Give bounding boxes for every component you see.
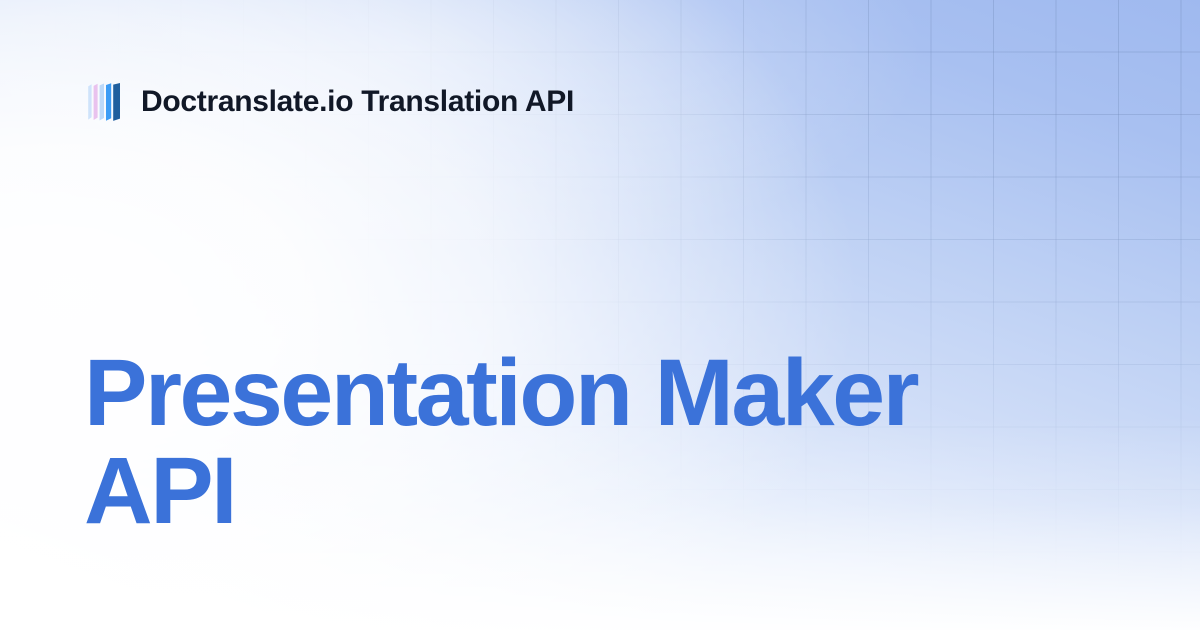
og-card: Doctranslate.io Translation API Presenta…: [0, 0, 1200, 630]
page-title: Presentation Maker API: [84, 345, 1014, 541]
brand-header: Doctranslate.io Translation API: [86, 80, 574, 124]
card-content: Doctranslate.io Translation API Presenta…: [0, 0, 1200, 630]
doctranslate-bars-logo-icon: [86, 83, 122, 121]
brand-title: Doctranslate.io Translation API: [141, 87, 574, 117]
